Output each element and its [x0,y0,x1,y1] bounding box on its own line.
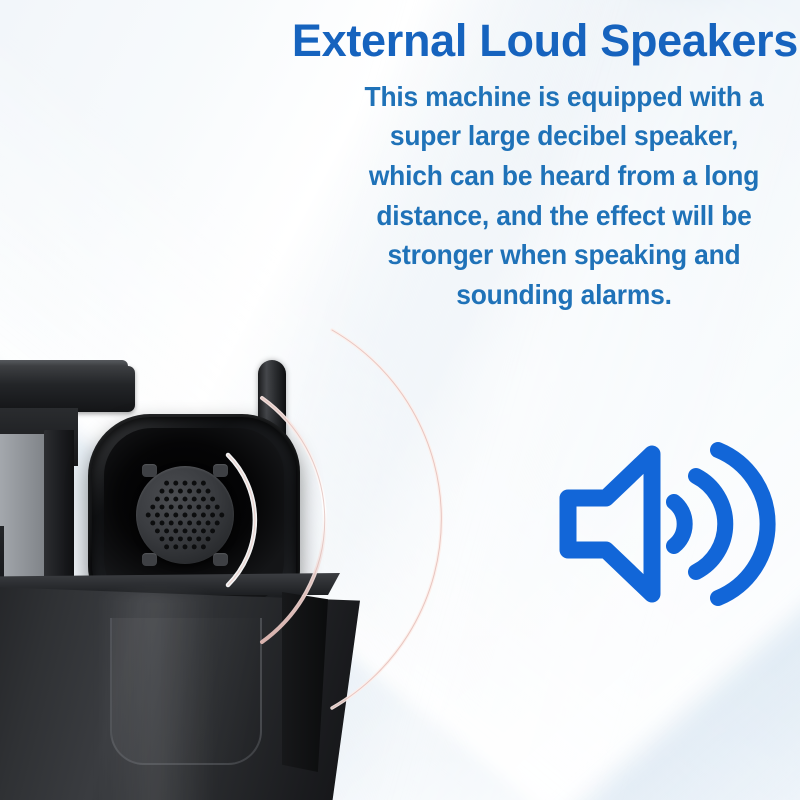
description-line: stronger when speaking and [339,235,788,275]
product-image [0,330,400,800]
grille-tab [213,553,228,566]
text-block: External Loud Speakers This machine is e… [330,18,798,314]
loudspeaker-icon [546,436,790,612]
speaker-grille-holes [136,466,234,564]
grey-side-panel [0,434,48,594]
grille-tab [142,553,157,566]
speaker-grille [136,466,234,564]
grille-tab [142,464,157,477]
grille-tab [213,464,228,477]
description-line: This machine is equipped with a [339,77,788,117]
page-title: External Loud Speakers [188,18,798,65]
description-line: sounding alarms. [339,275,788,315]
mounting-bracket [0,366,135,412]
promo-banner: External Loud Speakers This machine is e… [0,0,800,800]
description-line: super large decibel speaker, [339,116,788,156]
description-line: which can be heard from a long [339,156,788,196]
device-body-groove [110,618,262,765]
description: This machine is equipped with a super la… [330,77,798,315]
description-line: distance, and the effect will be [339,196,788,236]
